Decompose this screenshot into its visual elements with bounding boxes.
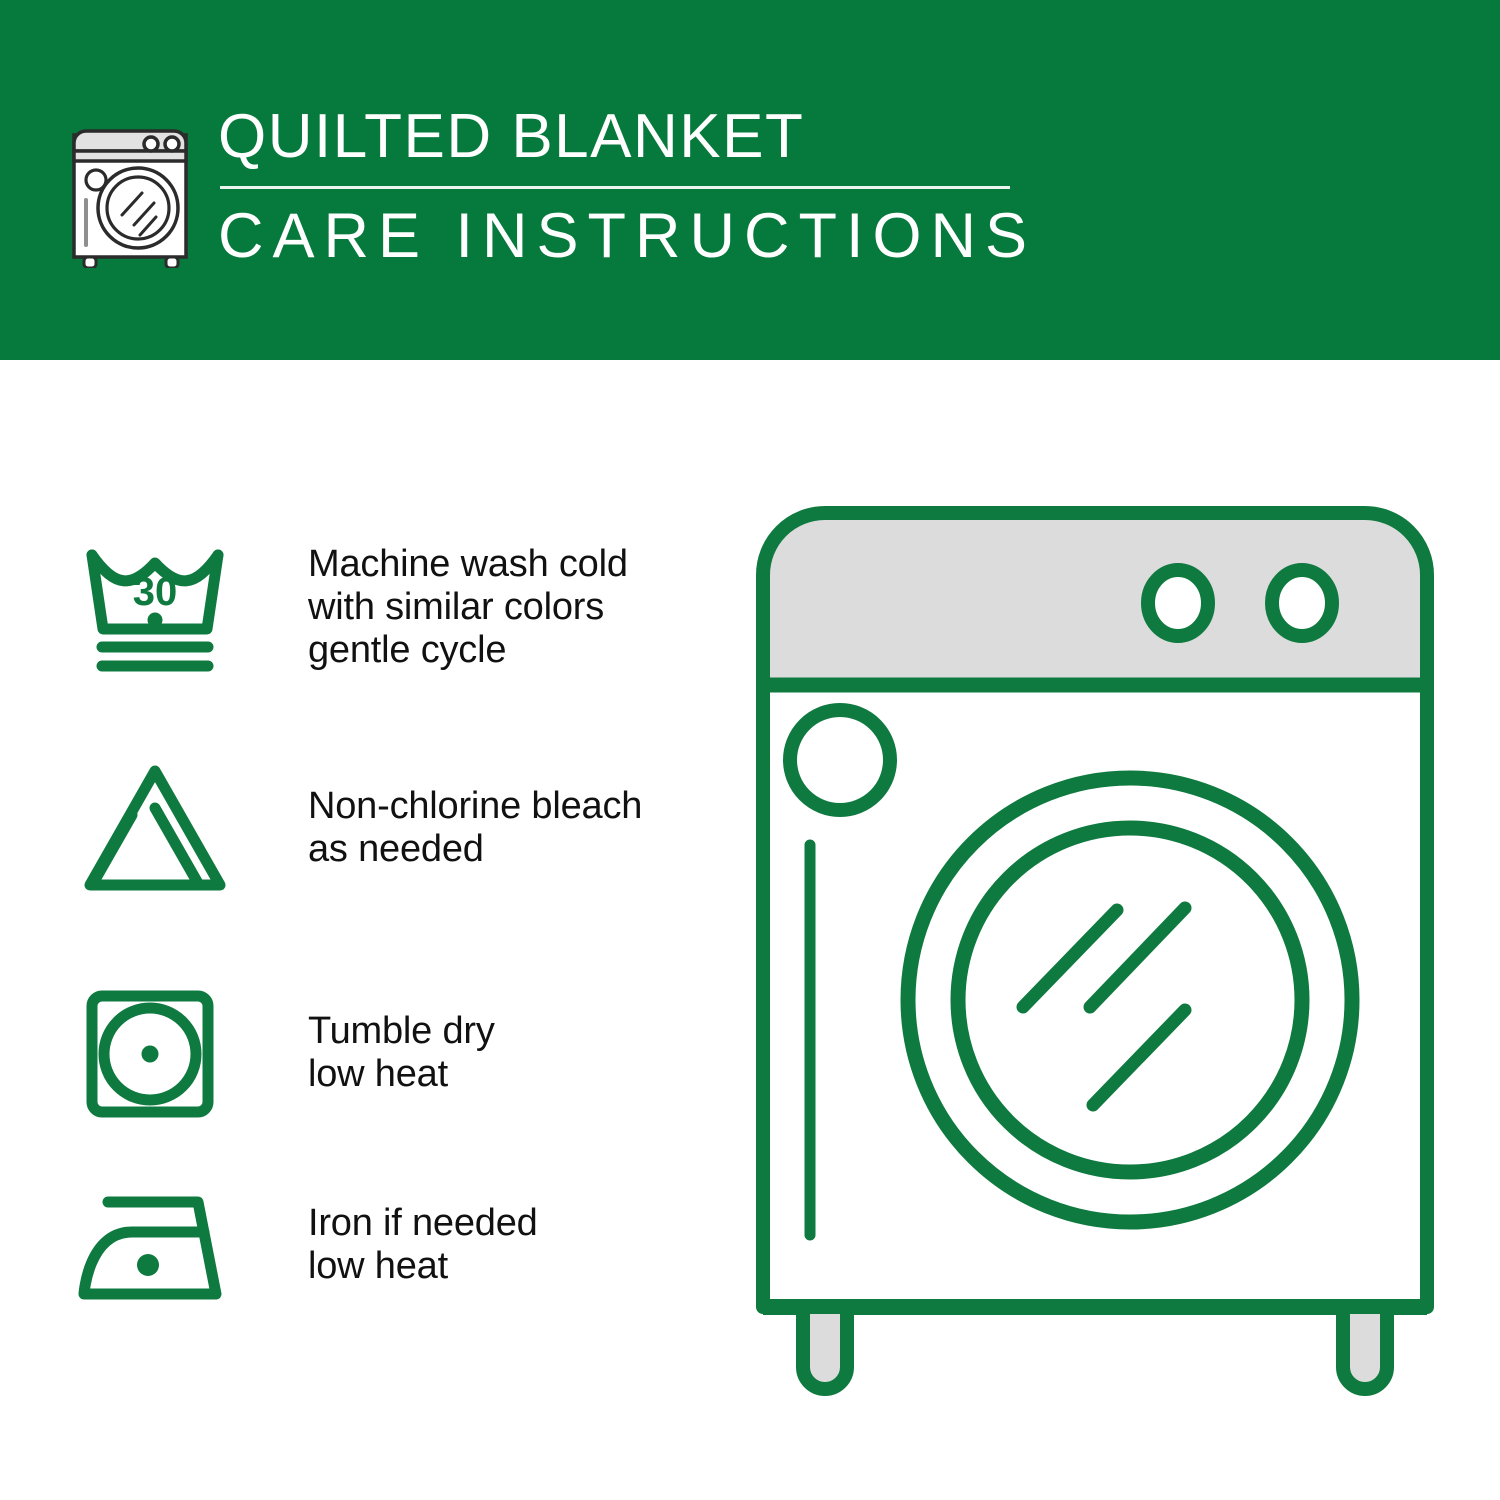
tumble-dry-low-icon <box>70 978 240 1128</box>
door-inner-ring <box>958 828 1302 1172</box>
care-text-line: Machine wash cold <box>308 543 628 586</box>
care-instruction-list: 30 Machine wash cold with similar colors… <box>70 505 710 1330</box>
title-divider <box>220 186 1010 189</box>
care-text-line: with similar colors <box>308 586 628 629</box>
care-text-line: low heat <box>308 1053 495 1096</box>
knob-left <box>1148 570 1208 636</box>
care-text-line: gentle cycle <box>308 629 628 672</box>
washing-machine-icon <box>62 103 207 268</box>
front-load-washing-machine-illustration <box>745 495 1445 1425</box>
knob-right <box>1272 570 1332 636</box>
care-text-line: as needed <box>308 828 642 871</box>
machine-wash-30-gentle-icon: 30 <box>70 533 240 683</box>
care-row-iron: Iron if needed low heat <box>70 1160 710 1330</box>
wash-temperature-value: 30 <box>133 570 178 614</box>
leg-right <box>1343 1307 1387 1389</box>
care-row-label: Iron if needed low heat <box>240 1202 538 1288</box>
care-row-label: Non-chlorine bleach as needed <box>240 785 642 871</box>
page-title: QUILTED BLANKET <box>218 100 1018 174</box>
care-row-label: Tumble dry low heat <box>240 1010 495 1096</box>
care-text-line: Tumble dry <box>308 1010 495 1053</box>
care-text-line: Iron if needed <box>308 1202 538 1245</box>
non-chlorine-bleach-icon <box>70 753 240 903</box>
header-banner: QUILTED BLANKET CARE INSTRUCTIONS <box>0 0 1500 360</box>
care-text-line: low heat <box>308 1245 538 1288</box>
care-row-bleach: Non-chlorine bleach as needed <box>70 710 710 945</box>
care-row-tumble-dry: Tumble dry low heat <box>70 945 710 1160</box>
care-instructions-poster: QUILTED BLANKET CARE INSTRUCTIONS 30 <box>0 0 1500 1500</box>
detergent-dispenser <box>790 710 890 810</box>
header-title-group: QUILTED BLANKET CARE INSTRUCTIONS <box>218 100 1018 273</box>
care-row-machine-wash: 30 Machine wash cold with similar colors… <box>70 505 710 710</box>
page-subtitle: CARE INSTRUCTIONS <box>218 199 1018 273</box>
leg-left <box>803 1307 847 1389</box>
care-text-line: Non-chlorine bleach <box>308 785 642 828</box>
care-row-label: Machine wash cold with similar colors ge… <box>240 543 628 672</box>
iron-low-heat-icon <box>70 1170 240 1320</box>
